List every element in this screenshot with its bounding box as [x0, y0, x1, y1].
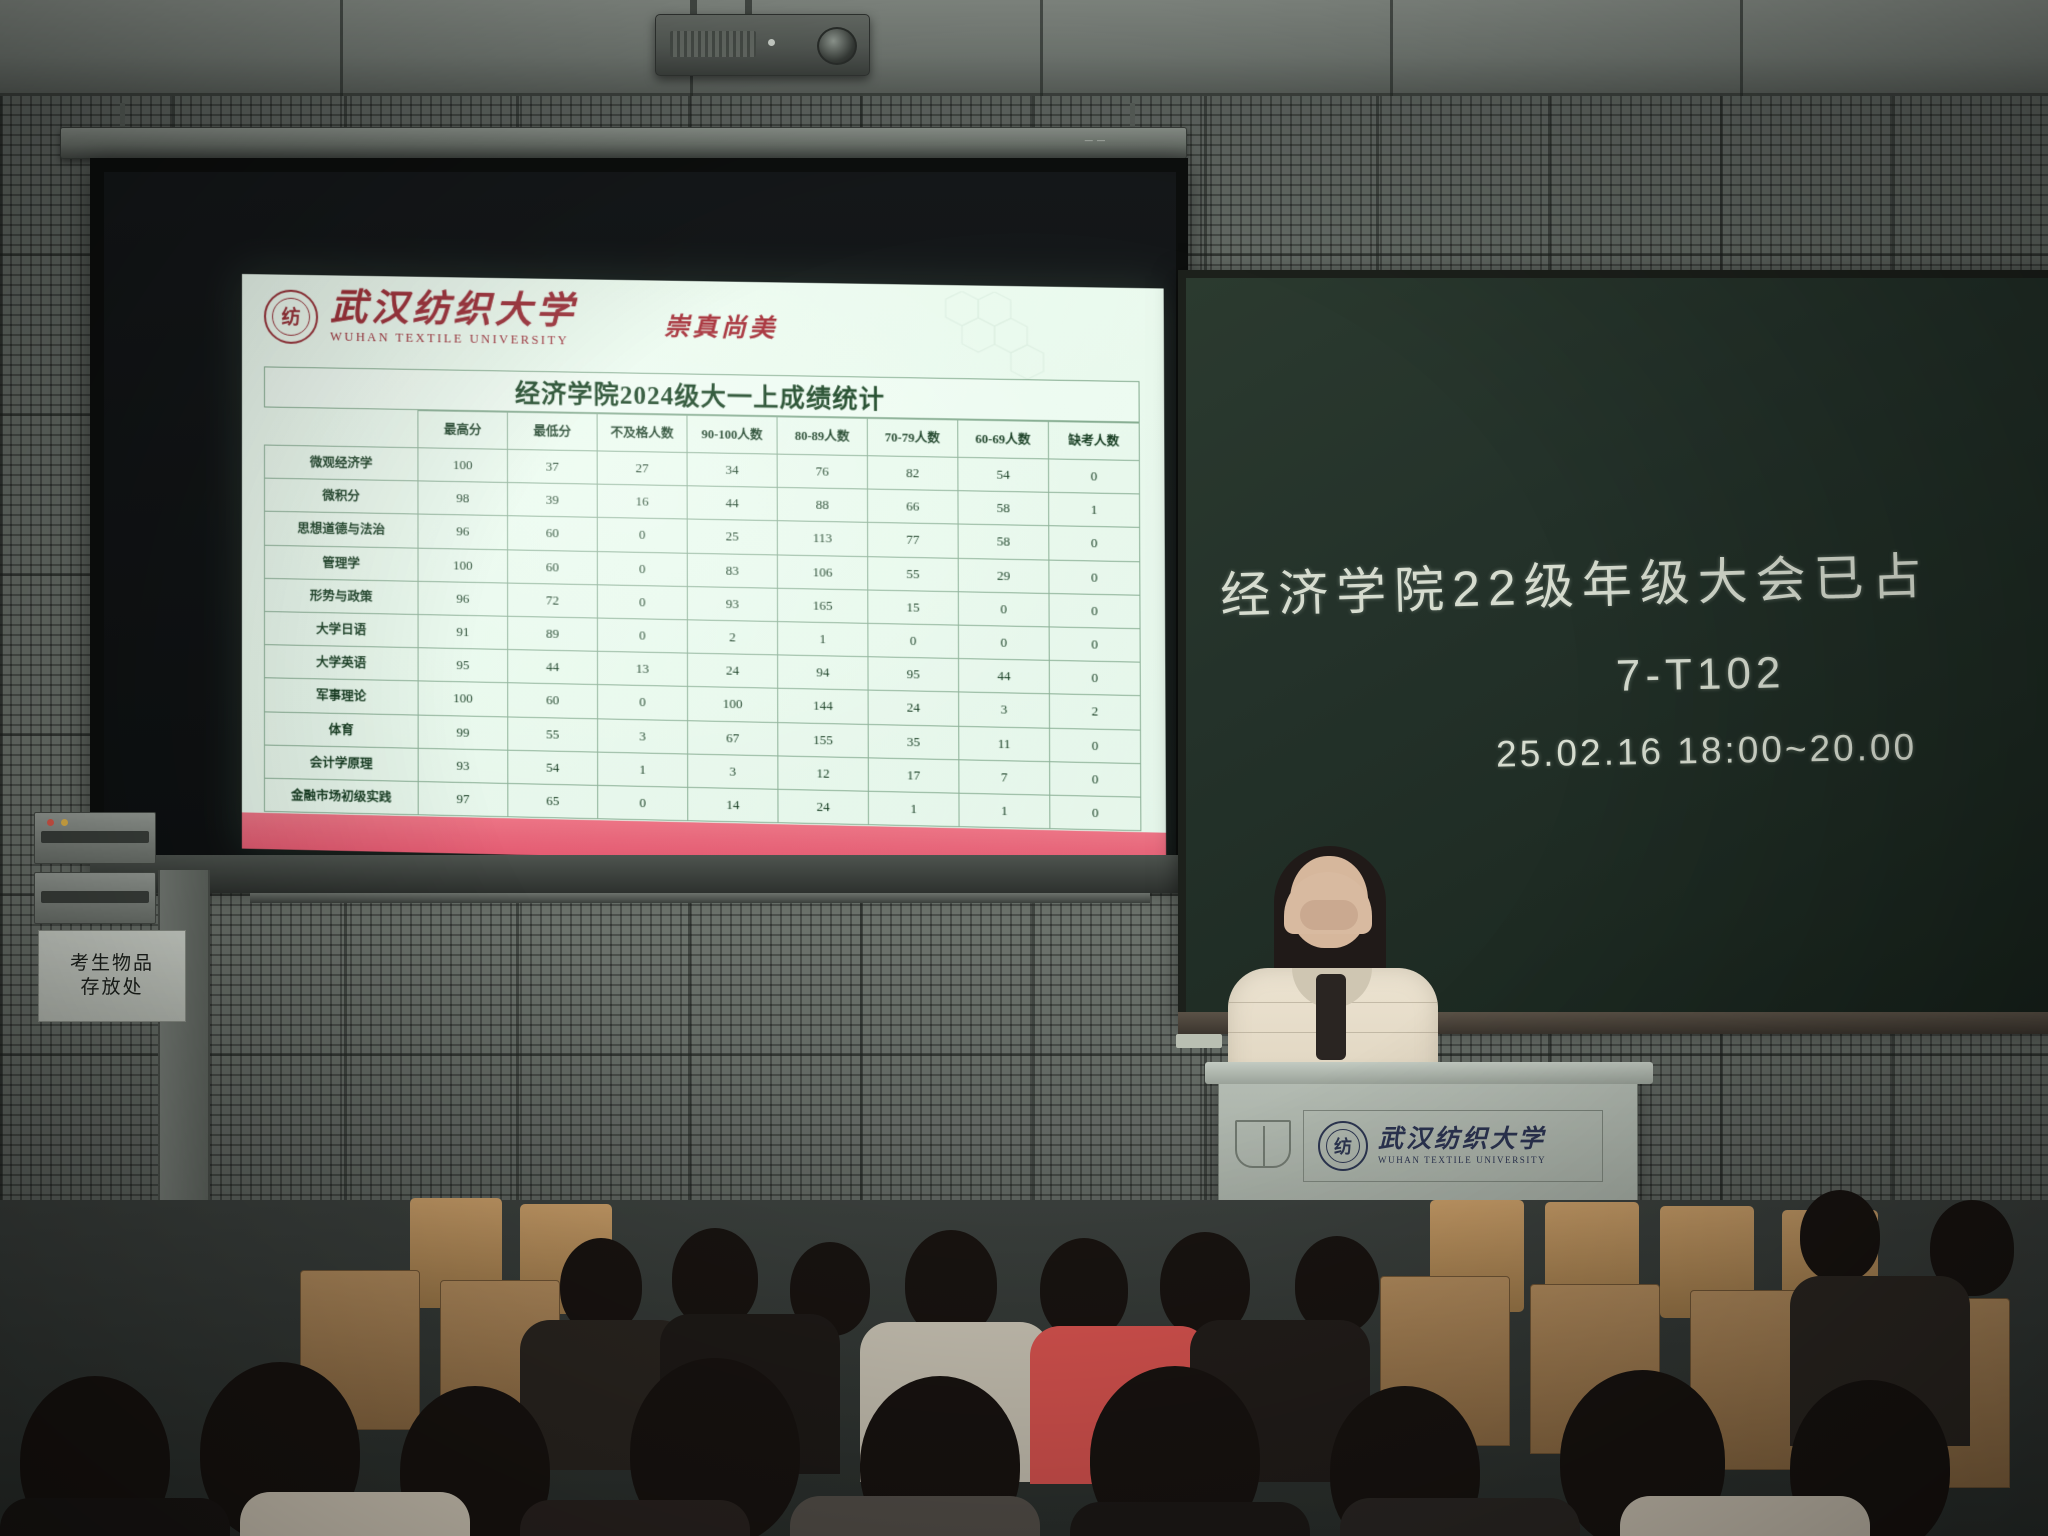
screen-brand-label: — — [1085, 136, 1106, 145]
cell-subject: 会计学原理 [264, 745, 418, 782]
cup-pictogram-icon [1235, 1120, 1291, 1168]
cell-value: 24 [687, 653, 777, 688]
cell-value: 96 [418, 581, 508, 616]
audience-body [1340, 1498, 1580, 1536]
cell-value: 39 [508, 483, 598, 518]
col-header-60-69: 60-69人数 [958, 420, 1049, 459]
cell-value: 1 [1049, 492, 1140, 527]
face-shadow [1300, 900, 1358, 930]
sign-line-1: 考生物品 [70, 952, 154, 976]
cell-value: 93 [687, 586, 777, 621]
cell-value: 3 [959, 692, 1050, 728]
university-name-en: WUHAN TEXTILE UNIVERSITY [330, 329, 577, 348]
cell-value: 76 [777, 454, 867, 489]
cell-value: 0 [1049, 593, 1140, 628]
cell-value: 0 [1049, 560, 1140, 595]
cell-value: 165 [777, 588, 867, 623]
cell-value: 0 [597, 518, 687, 553]
cell-subject: 金融市场初级实践 [264, 778, 418, 815]
cell-value: 94 [778, 655, 868, 690]
cell-value: 0 [1049, 627, 1140, 662]
exam-belongings-sign: 考生物品 存放处 [38, 930, 186, 1022]
audience-head [1040, 1238, 1128, 1340]
cell-value: 83 [687, 553, 777, 588]
scarf [1316, 974, 1346, 1060]
cell-value: 144 [778, 689, 868, 724]
cell-value: 100 [418, 681, 508, 716]
cell-value: 58 [958, 491, 1049, 526]
cell-value: 0 [1049, 526, 1140, 561]
cell-value: 67 [688, 720, 778, 755]
audience-body [1620, 1496, 1870, 1536]
cell-value: 82 [867, 456, 958, 491]
projector-mount-rod [745, 0, 752, 14]
grades-table-body: 微观经济学1003727347682540微积分983916448866581思… [264, 445, 1140, 831]
cell-value: 24 [868, 690, 959, 725]
cell-subject: 微观经济学 [264, 445, 418, 481]
cell-value: 77 [868, 523, 959, 558]
cell-value: 54 [958, 457, 1049, 492]
audience-head [1800, 1190, 1880, 1282]
projector-lens-icon [817, 27, 857, 65]
cell-value: 55 [508, 717, 598, 752]
cell-value: 88 [777, 488, 867, 523]
cell-value: 97 [418, 782, 508, 817]
cell-value: 1 [868, 791, 959, 827]
seal-glyph: 纺 [266, 291, 316, 342]
projected-slide: 纺 武汉纺织大学 WUHAN TEXTILE UNIVERSITY 崇真尚美 经… [242, 274, 1166, 862]
cell-value: 7 [959, 760, 1050, 796]
cell-value: 0 [1049, 661, 1140, 697]
cell-value: 100 [418, 548, 508, 583]
cell-value: 100 [418, 448, 508, 483]
cell-value: 44 [687, 486, 777, 521]
university-name-cn: 武汉纺织大学 [330, 289, 577, 330]
cell-value: 1 [778, 622, 868, 657]
cell-subject: 体育 [264, 712, 418, 749]
cell-subject: 大学英语 [264, 645, 418, 681]
lectern-nameplate: 纺 武汉纺织大学 WUHAN TEXTILE UNIVERSITY [1303, 1110, 1603, 1182]
cell-value: 34 [687, 453, 777, 488]
screen-hook [120, 103, 125, 127]
chalk-line-3: 25.02.16 18:00~20.00 [1496, 726, 1918, 775]
cell-subject: 大学日语 [264, 611, 418, 647]
col-header-80-89: 80-89人数 [777, 417, 867, 456]
audience-body [1070, 1502, 1310, 1536]
col-header-90-100: 90-100人数 [687, 415, 777, 454]
panel-led-red-icon [47, 819, 54, 826]
seat-rows [0, 1180, 2048, 1536]
cell-subject: 微积分 [264, 478, 418, 514]
ceiling-seam [340, 0, 343, 96]
university-motto: 崇真尚美 [664, 307, 777, 345]
wall-socket-panel[interactable] [34, 872, 156, 924]
cell-value: 0 [597, 551, 687, 586]
cell-value: 0 [868, 623, 959, 658]
university-seal-icon: 纺 [1318, 1121, 1368, 1171]
cell-value: 0 [958, 625, 1049, 660]
cell-value: 2 [687, 620, 777, 655]
projector-led-icon [768, 39, 775, 46]
cell-value: 13 [598, 651, 688, 686]
projection-screen: 纺 武汉纺织大学 WUHAN TEXTILE UNIVERSITY 崇真尚美 经… [104, 172, 1176, 862]
cell-value: 60 [508, 683, 598, 718]
seal-glyph: 纺 [1320, 1123, 1366, 1169]
cell-value: 65 [508, 783, 598, 818]
screen-weight-rod [250, 893, 1150, 903]
col-header-min: 最低分 [508, 412, 598, 451]
ceiling-projector [655, 14, 870, 76]
chalk-line-1: 经济学院22级年级大会已占 [1219, 536, 1930, 628]
ceiling-seam [1740, 0, 1743, 96]
audience-head [672, 1228, 758, 1328]
panel-led-amber-icon [61, 819, 68, 826]
lectern-university-cn: 武汉纺织大学 [1378, 1127, 1546, 1152]
hexagon-decoration-icon [925, 291, 1058, 389]
cell-value: 60 [508, 549, 598, 584]
cell-value: 0 [598, 685, 688, 720]
cell-value: 0 [597, 585, 687, 620]
cell-value: 3 [688, 754, 778, 789]
cell-value: 1 [598, 752, 688, 787]
cell-value: 24 [778, 789, 868, 825]
col-header-fail: 不及格人数 [597, 414, 687, 453]
wall-control-panel[interactable] [34, 812, 156, 864]
university-seal-icon: 纺 [264, 289, 318, 344]
slide-title: 经济学院2024级大一上成绩统计 [515, 373, 885, 416]
cell-value: 99 [418, 715, 508, 750]
cell-value: 29 [958, 558, 1049, 593]
cell-value: 58 [958, 524, 1049, 559]
audience-body [520, 1500, 750, 1536]
cell-value: 106 [777, 555, 867, 590]
col-header-70-79: 70-79人数 [867, 418, 958, 457]
cell-value: 93 [418, 748, 508, 783]
lectern-university-en: WUHAN TEXTILE UNIVERSITY [1378, 1155, 1546, 1165]
cell-value: 100 [688, 687, 778, 722]
cell-value: 0 [1050, 795, 1141, 831]
cell-value: 95 [418, 648, 508, 683]
cell-subject: 管理学 [264, 545, 418, 581]
cell-value: 0 [1050, 762, 1141, 798]
cell-value: 96 [418, 514, 508, 549]
cell-value: 0 [1049, 728, 1140, 764]
eraser-icon [1176, 1034, 1222, 1048]
cell-value: 54 [508, 750, 598, 785]
cell-value: 12 [778, 756, 868, 792]
lecture-hall-photo: — — 纺 武汉纺织大学 WUHAN TEXT [0, 0, 2048, 1536]
cell-value: 0 [1048, 459, 1139, 494]
cell-value: 11 [959, 726, 1050, 762]
cell-value: 16 [597, 484, 687, 519]
cell-value: 2 [1049, 694, 1140, 730]
cell-value: 17 [868, 758, 959, 794]
col-header-max: 最高分 [418, 411, 508, 450]
audience-body [240, 1492, 470, 1536]
cell-value: 14 [688, 787, 778, 823]
panel-slot [41, 831, 149, 843]
screen-bottom-bar [90, 855, 1188, 893]
cell-value: 44 [958, 659, 1049, 694]
projection-screen-case: — — [60, 127, 1187, 159]
lectern-top [1205, 1062, 1653, 1084]
cell-value: 0 [958, 592, 1049, 627]
ceiling-seam [1040, 0, 1043, 96]
cell-value: 155 [778, 722, 868, 757]
audience-body [790, 1496, 1040, 1536]
screen-hook [1130, 103, 1135, 127]
cell-value: 15 [868, 590, 959, 625]
cell-value: 66 [867, 489, 958, 524]
cell-value: 60 [508, 516, 598, 551]
cell-value: 0 [597, 618, 687, 653]
ceiling-seam [1390, 0, 1393, 96]
cell-value: 37 [508, 449, 598, 484]
col-header-subject [264, 408, 418, 448]
cell-value: 27 [597, 451, 687, 486]
col-header-absent: 缺考人数 [1048, 422, 1139, 461]
cell-subject: 形势与政策 [264, 578, 418, 614]
cell-value: 35 [868, 724, 959, 760]
grades-table: 最高分 最低分 不及格人数 90-100人数 80-89人数 70-79人数 6… [264, 407, 1141, 831]
panel-slot [41, 891, 149, 903]
cell-value: 72 [508, 583, 598, 618]
cell-value: 113 [777, 521, 867, 556]
chalk-line-2: 7-T102 [1615, 648, 1785, 702]
cell-subject: 军事理论 [264, 678, 418, 715]
slide-header: 纺 武汉纺织大学 WUHAN TEXTILE UNIVERSITY [264, 288, 577, 348]
projector-vent [670, 31, 756, 57]
audience-body [0, 1498, 230, 1536]
cell-value: 98 [418, 481, 508, 516]
cell-subject: 思想道德与法治 [264, 512, 418, 548]
sign-line-2: 存放处 [80, 976, 143, 1000]
cell-value: 89 [508, 616, 598, 651]
cell-value: 44 [508, 650, 598, 685]
cell-value: 3 [598, 718, 688, 753]
cell-value: 25 [687, 519, 777, 554]
cell-value: 1 [959, 793, 1050, 829]
cell-value: 95 [868, 657, 959, 692]
cell-value: 0 [598, 785, 688, 820]
cell-value: 91 [418, 615, 508, 650]
cell-value: 55 [868, 556, 959, 591]
